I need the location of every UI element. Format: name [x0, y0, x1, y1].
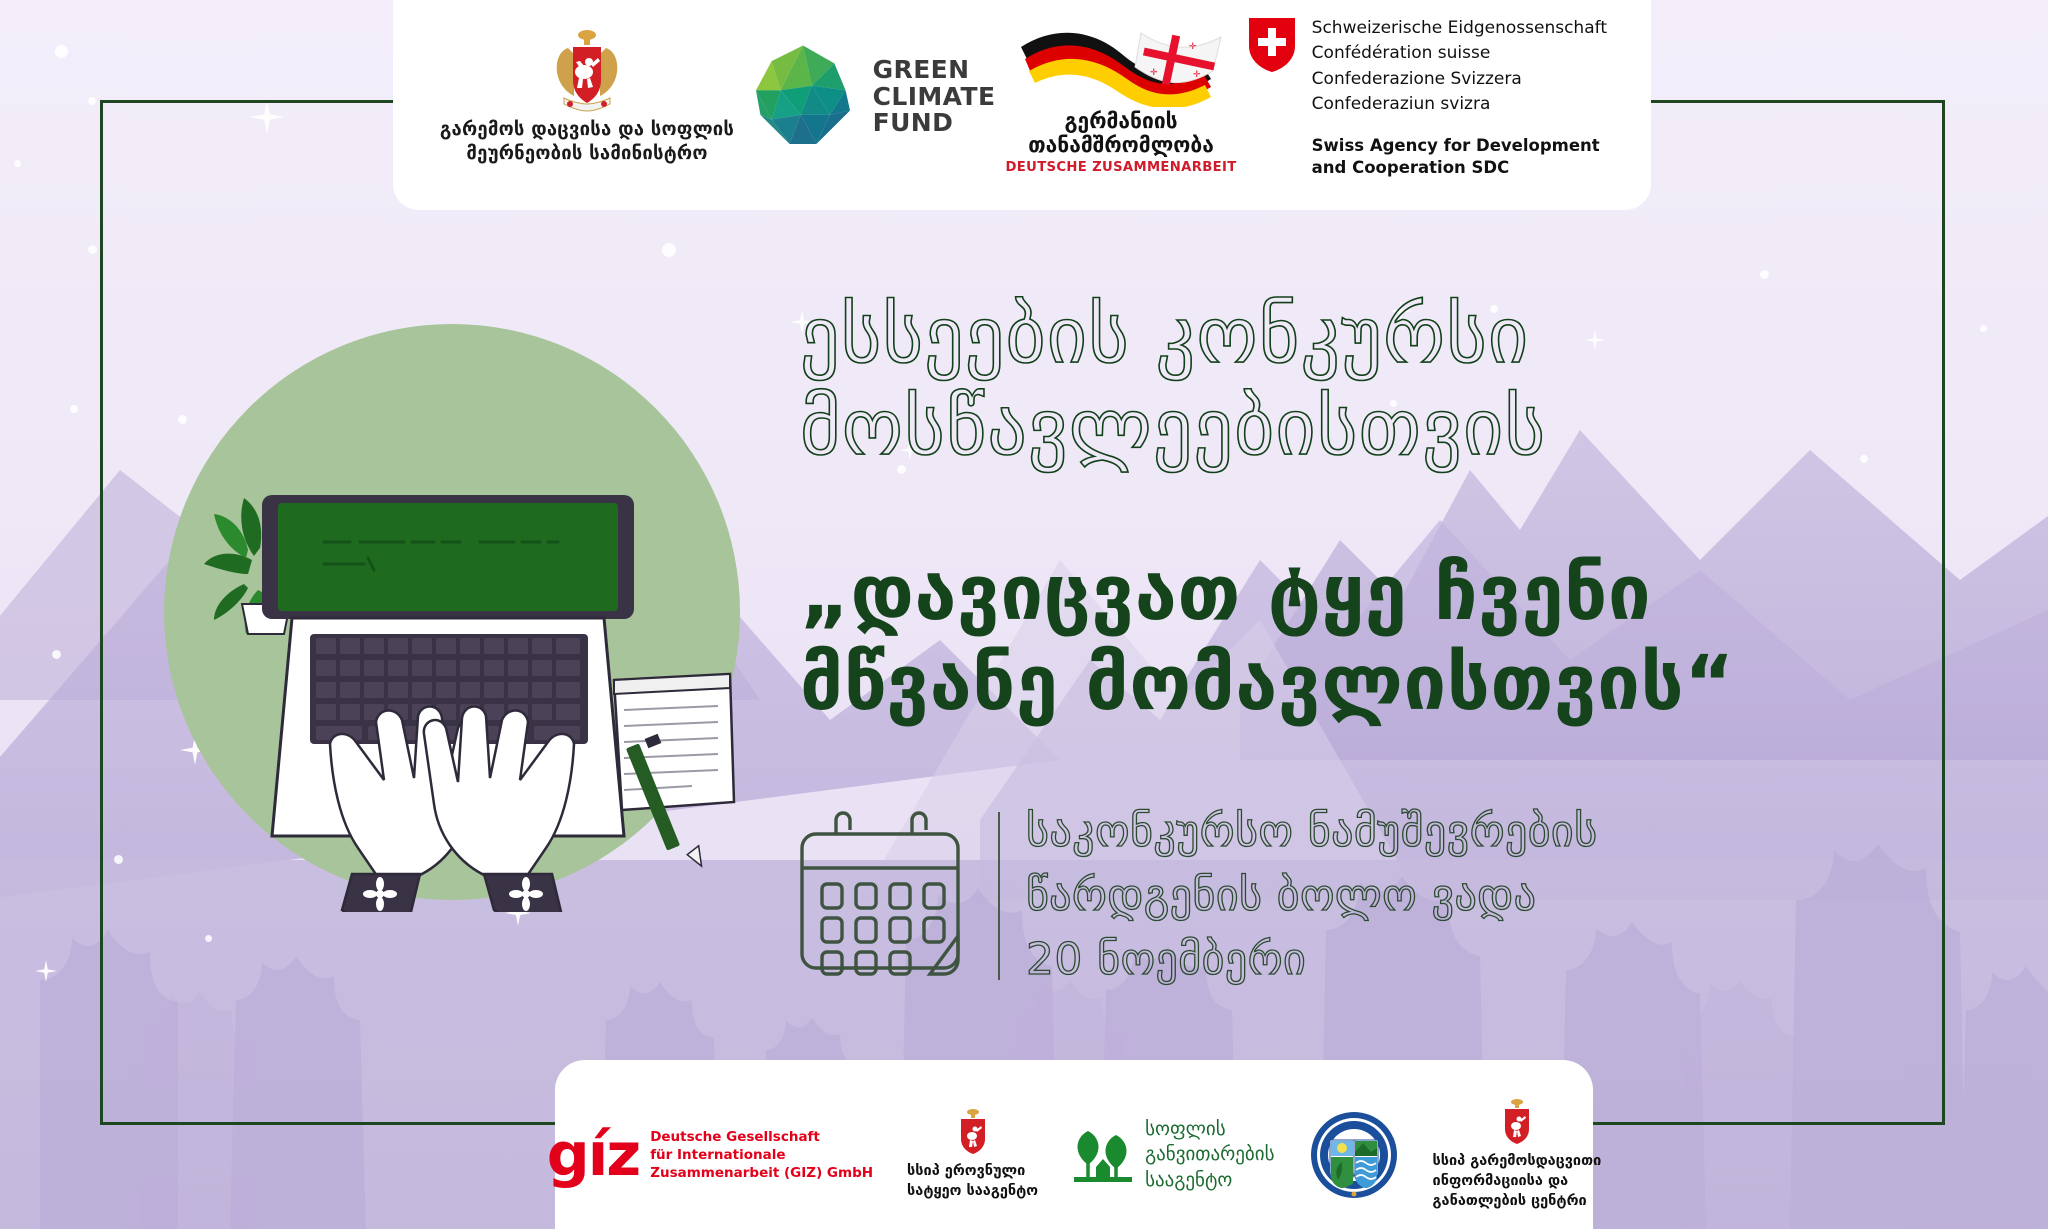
notepad-icon: [614, 674, 734, 810]
slogan-line-2: მწვანე მომავლისთვის“: [800, 638, 1940, 728]
nfa-line-2: სატყეო სააგენტო: [907, 1182, 1038, 1202]
gcf-line-3: FUND: [873, 110, 996, 137]
swiss-line-de: Schweizerische Eidgenossenschaft: [1312, 16, 1607, 42]
georgia-shield-emblem-icon: [956, 1108, 990, 1156]
giz-wordmark: gíz: [547, 1128, 639, 1182]
headline-line-1: ესსეების კონკურსი: [800, 290, 1920, 382]
headline-line-2: მოსწავლეებისთვის: [800, 382, 1920, 474]
headline: ესსეების კონკურსი მოსწავლეებისთვის: [800, 290, 1920, 474]
german-coop-ka-line-2: თანამშრომლობა: [1028, 133, 1214, 157]
ministry-logo: გარემოს დაცვისა და სოფლის მეურნეობის სამ…: [437, 28, 737, 167]
slogan: „დავიცვათ ტყე ჩვენი მწვანე მომავლისთვის“: [800, 548, 1940, 729]
giz-line-1: Deutsche Gesellschaft: [650, 1128, 873, 1146]
rural-development-agency-logo: სოფლის განვითარების სააგენტო: [1072, 1117, 1274, 1193]
svg-text:✛: ✛: [1189, 42, 1197, 52]
giz-line-3: Zusammenarbeit (GIZ) GmbH: [650, 1164, 873, 1182]
ministry-line-2: მეურნეობის სამინისტრო: [440, 142, 734, 166]
rda-line-2: განვითარების: [1145, 1142, 1274, 1167]
swiss-cross-shield-icon: [1247, 16, 1297, 74]
rda-line-1: სოფლის: [1145, 1117, 1274, 1142]
georgia-coat-of-arms-icon: [546, 28, 628, 114]
gcf-line-2: CLIMATE: [873, 84, 996, 111]
gcf-line-1: GREEN: [873, 57, 996, 84]
swiss-agency-line-2: and Cooperation SDC: [1312, 157, 1607, 179]
deadline-line-3: 20 ნოემბერი: [1026, 928, 1597, 992]
two-trees-icon: [1072, 1125, 1134, 1185]
eic-line-2: ინფორმაციისა და: [1433, 1172, 1602, 1192]
german-georgian-flag-ribbon-icon: ✛ ✛ ✛: [1015, 19, 1227, 107]
circular-blue-seal-icon: [1309, 1110, 1399, 1200]
georgia-shield-emblem-icon: [1500, 1098, 1534, 1146]
rda-line-3: სააგენტო: [1145, 1168, 1274, 1193]
circular-seal-logo: [1309, 1110, 1399, 1200]
german-coop-ka-line-1: გერმანიის: [1028, 109, 1214, 133]
calendar-icon: [800, 808, 972, 984]
swiss-line-rm: Confederaziun svizra: [1312, 92, 1607, 118]
german-coop-de-line: DEUTSCHE ZUSAMMENARBEIT: [1005, 160, 1236, 175]
deadline-block: საკონკურსო ნამუშევრების წარდგენის ბოლო ვ…: [800, 800, 1597, 993]
swiss-line-fr: Confédération suisse: [1312, 41, 1607, 67]
swiss-confederation-logo: Schweizerische Eidgenossenschaft Confédé…: [1247, 16, 1607, 179]
slogan-line-1: „დავიცვათ ტყე ჩვენი: [800, 548, 1940, 638]
national-forestry-agency-logo: სსიპ ეროვნული სატყეო სააგენტო: [907, 1108, 1038, 1201]
german-cooperation-logo: ✛ ✛ ✛ გერმანიის თანამშრომლობა DEUTSCHE Z…: [1005, 19, 1237, 176]
nfa-line-1: სსიპ ეროვნული: [907, 1162, 1038, 1182]
environmental-info-center-logo: სსიპ გარემოსდაცვითი ინფორმაციისა და განა…: [1433, 1098, 1602, 1211]
ministry-line-1: გარემოს დაცვისა და სოფლის: [440, 118, 734, 142]
illustration-person-typing-on-laptop: [152, 312, 752, 912]
swiss-agency-line-1: Swiss Agency for Development: [1312, 135, 1607, 157]
top-logo-panel: გარემოს დაცვისა და სოფლის მეურნეობის სამ…: [393, 0, 1651, 210]
gcf-sphere-icon: [747, 41, 859, 153]
swiss-line-it: Confederazione Svizzera: [1312, 67, 1607, 93]
laptop-screen: [278, 503, 618, 611]
poster-canvas: გარემოს დაცვისა და სოფლის მეურნეობის სამ…: [0, 0, 2048, 1229]
svg-text:✛: ✛: [1193, 70, 1201, 80]
bottom-logo-panel: gíz Deutsche Gesellschaft für Internatio…: [555, 1060, 1593, 1229]
deadline-line-2: წარდგენის ბოლო ვადა: [1026, 864, 1597, 928]
eic-line-3: განათლების ცენტრი: [1433, 1192, 1602, 1212]
svg-text:✛: ✛: [1150, 68, 1158, 78]
green-climate-fund-logo: GREEN CLIMATE FUND: [747, 41, 996, 153]
eic-line-1: სსიპ გარემოსდაცვითი: [1433, 1152, 1602, 1172]
deadline-line-1: საკონკურსო ნამუშევრების: [1026, 800, 1597, 864]
giz-line-2: für Internationale: [650, 1146, 873, 1164]
giz-logo: gíz Deutsche Gesellschaft für Internatio…: [547, 1128, 873, 1182]
deadline-divider: [998, 812, 1000, 980]
